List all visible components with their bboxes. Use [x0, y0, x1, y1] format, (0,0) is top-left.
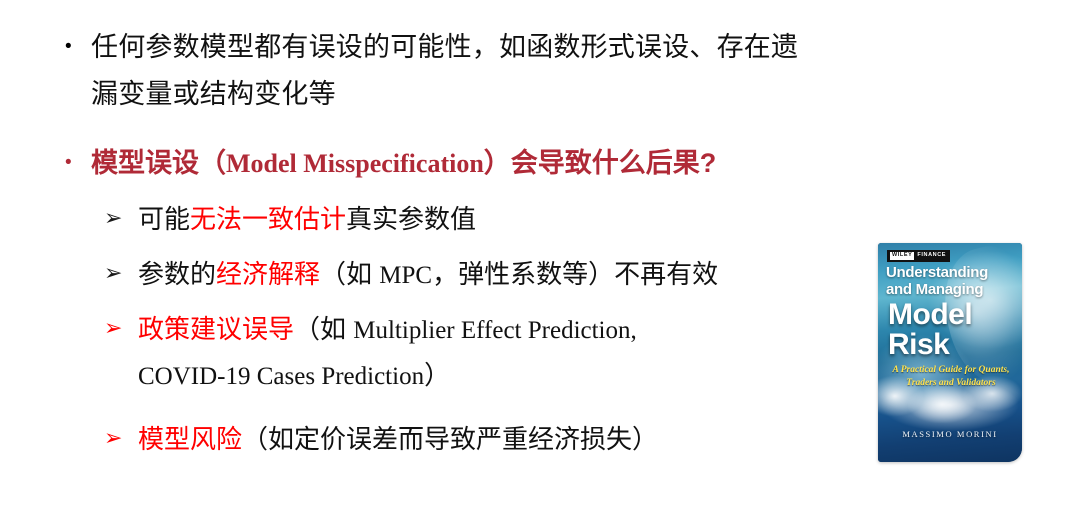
book-main-title-line-2: Risk — [888, 330, 1014, 360]
sub-bullet-consistent-estimation: ➢ 可能无法一致估计真实参数值 — [104, 197, 884, 242]
segment-text-highlight: 无法一致估计 — [190, 204, 346, 234]
publisher-mark-wiley: WILEY — [890, 252, 914, 260]
book-subtitle-line-2: Traders and Validators — [887, 378, 1015, 390]
slide-canvas: • 任何参数模型都有误设的可能性，如函数形式误设、存在遗 漏变量或结构变化等 •… — [0, 0, 1080, 505]
segment-text-latin: MPC — [379, 262, 432, 289]
sub-bullet-text-block: 可能无法一致估计真实参数值 — [138, 197, 884, 242]
sub-bullet-policy-misguidance: ➢ 政策建议误导（如 Multiplier Effect Prediction,… — [104, 307, 894, 399]
wiley-finance-badge: WILEY FINANCE — [887, 250, 950, 262]
bullet-dot-icon: • — [62, 24, 91, 70]
arrow-bullet-icon-red: ➢ — [104, 307, 138, 351]
book-title-line-1: Understanding — [886, 265, 1014, 280]
sub-bullet-economic-interpretation: ➢ 参数的经济解释（如 MPC，弹性系数等）不再有效 — [104, 252, 904, 298]
sub-bullet-model-risk: ➢ 模型风险（如定价误差而导致严重经济损失） — [104, 417, 894, 462]
sub-bullet-line: 模型风险（如定价误差而导致严重经济损失） — [138, 417, 894, 462]
sub-bullet-text-block: 参数的经济解释（如 MPC，弹性系数等）不再有效 — [138, 252, 904, 298]
heading-cn-prefix: 模型误设（ — [91, 148, 226, 178]
sub-bullet-text-block: 政策建议误导（如 Multiplier Effect Prediction, C… — [138, 307, 894, 399]
sub-bullet-line: 可能无法一致估计真实参数值 — [138, 197, 884, 242]
bullet-line-1: 任何参数模型都有误设的可能性，如函数形式误设、存在遗 — [91, 24, 962, 71]
segment-text: 参数的 — [138, 259, 216, 289]
sub-bullet-line: 参数的经济解释（如 MPC，弹性系数等）不再有效 — [138, 252, 904, 298]
book-author-name: MASSIMO MORINI — [878, 429, 1022, 439]
bullet-line-2: 漏变量或结构变化等 — [91, 71, 962, 118]
segment-text-highlight: 经济解释 — [216, 259, 320, 289]
segment-text-highlight: 模型风险 — [138, 424, 242, 454]
book-cover-image: WILEY FINANCE Understanding and Managing… — [878, 243, 1022, 462]
book-main-title-line-1: Model — [888, 300, 1014, 330]
segment-text: ，弹性系数等）不再有效 — [432, 259, 718, 289]
segment-text: 真实参数值 — [346, 204, 476, 234]
book-subtitle-line-1: A Practical Guide for Quants, — [887, 365, 1015, 377]
segment-text: （如 — [294, 314, 353, 344]
sub-bullet-line: 政策建议误导（如 Multiplier Effect Prediction, — [138, 307, 894, 353]
segment-text: ） — [424, 360, 450, 390]
segment-text: （如 — [320, 259, 379, 289]
heading-misspecification: 模型误设（Model Misspecification）会导致什么后果? — [91, 140, 962, 187]
heading-cn-suffix: ）会导致什么后果? — [484, 148, 717, 178]
bullet-text-block: 任何参数模型都有误设的可能性，如函数形式误设、存在遗 漏变量或结构变化等 — [91, 24, 962, 118]
heading-en-term: Model Misspecification — [226, 149, 484, 178]
bullet-item-misspecification-possibility: • 任何参数模型都有误设的可能性，如函数形式误设、存在遗 漏变量或结构变化等 — [62, 24, 962, 118]
arrow-bullet-icon: ➢ — [104, 197, 138, 241]
segment-text: 可能 — [138, 204, 190, 234]
book-title-line-2: and Managing — [886, 282, 1014, 297]
arrow-bullet-icon-red: ➢ — [104, 417, 138, 461]
heading-text-block: 模型误设（Model Misspecification）会导致什么后果? — [91, 140, 962, 187]
arrow-bullet-icon: ➢ — [104, 252, 138, 296]
segment-text-latin: Multiplier Effect Prediction, — [353, 317, 637, 344]
segment-text: （如定价误差而导致严重经济损失） — [242, 424, 658, 454]
publisher-mark-finance: FINANCE — [917, 253, 946, 259]
bullet-item-consequences-heading: • 模型误设（Model Misspecification）会导致什么后果? — [62, 140, 962, 187]
sub-bullet-line-continuation: COVID-19 Cases Prediction） — [138, 353, 894, 399]
bullet-dot-icon-red: • — [62, 140, 91, 186]
segment-text-latin: COVID-19 Cases Prediction — [138, 363, 424, 390]
segment-text-highlight: 政策建议误导 — [138, 314, 294, 344]
sub-bullet-text-block: 模型风险（如定价误差而导致严重经济损失） — [138, 417, 894, 462]
